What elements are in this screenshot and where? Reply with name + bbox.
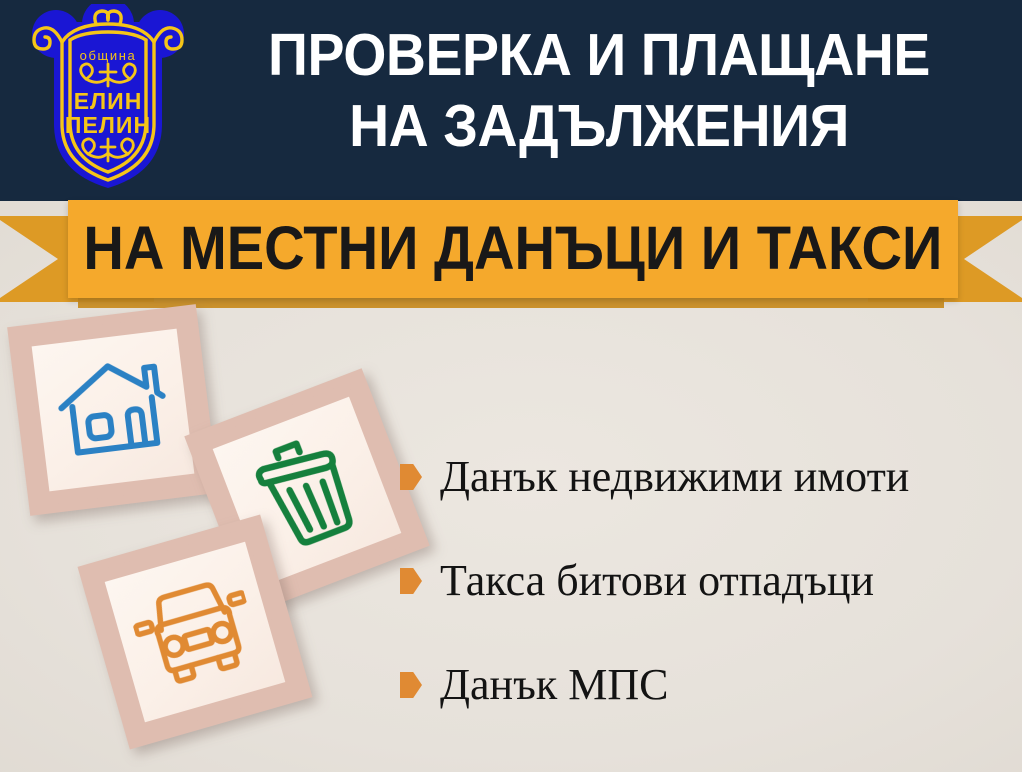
house-icon — [51, 352, 175, 469]
ribbon-banner: НА МЕСТНИ ДАНЪЦИ И ТАКСИ — [0, 198, 1022, 302]
header-bar: община ЕЛИН ПЕЛИН ПРОВЕРКА И ПЛАЩАНЕ НА … — [0, 0, 1022, 201]
ribbon-panel: НА МЕСТНИ ДАНЪЦИ И ТАКСИ — [68, 200, 958, 298]
crest-line-2: ПЕЛИН — [65, 112, 151, 138]
stamp-card-house — [7, 304, 219, 516]
stamp-inner-house — [32, 329, 195, 492]
tax-type-list: Данък недвижими имоти Такса битови отпад… — [400, 425, 1020, 737]
list-item[interactable]: Данък недвижими имоти — [400, 425, 1020, 529]
coat-of-arms-icon: община ЕЛИН ПЕЛИН — [24, 4, 192, 192]
list-item-label: Данък недвижими имоти — [440, 455, 909, 499]
arrow-bullet-icon — [400, 672, 422, 698]
poster-root: община ЕЛИН ПЕЛИН ПРОВЕРКА И ПЛАЩАНЕ НА … — [0, 0, 1022, 772]
list-item-label: Такса битови отпадъци — [440, 559, 874, 603]
crest-top-word: община — [80, 48, 137, 63]
list-item[interactable]: Данък МПС — [400, 633, 1020, 737]
list-item[interactable]: Такса битови отпадъци — [400, 529, 1020, 633]
car-front-icon — [126, 571, 263, 693]
page-title: ПРОВЕРКА И ПЛАЩАНЕ НА ЗАДЪЛЖЕНИЯ — [220, 20, 978, 162]
arrow-bullet-icon — [400, 464, 422, 490]
list-item-label: Данък МПС — [440, 663, 668, 707]
arrow-bullet-icon — [400, 568, 422, 594]
crest-logo: община ЕЛИН ПЕЛИН — [24, 4, 192, 192]
ribbon-label: НА МЕСТНИ ДАНЪЦИ И ТАКСИ — [83, 218, 942, 279]
crest-line-1: ЕЛИН — [74, 88, 143, 114]
